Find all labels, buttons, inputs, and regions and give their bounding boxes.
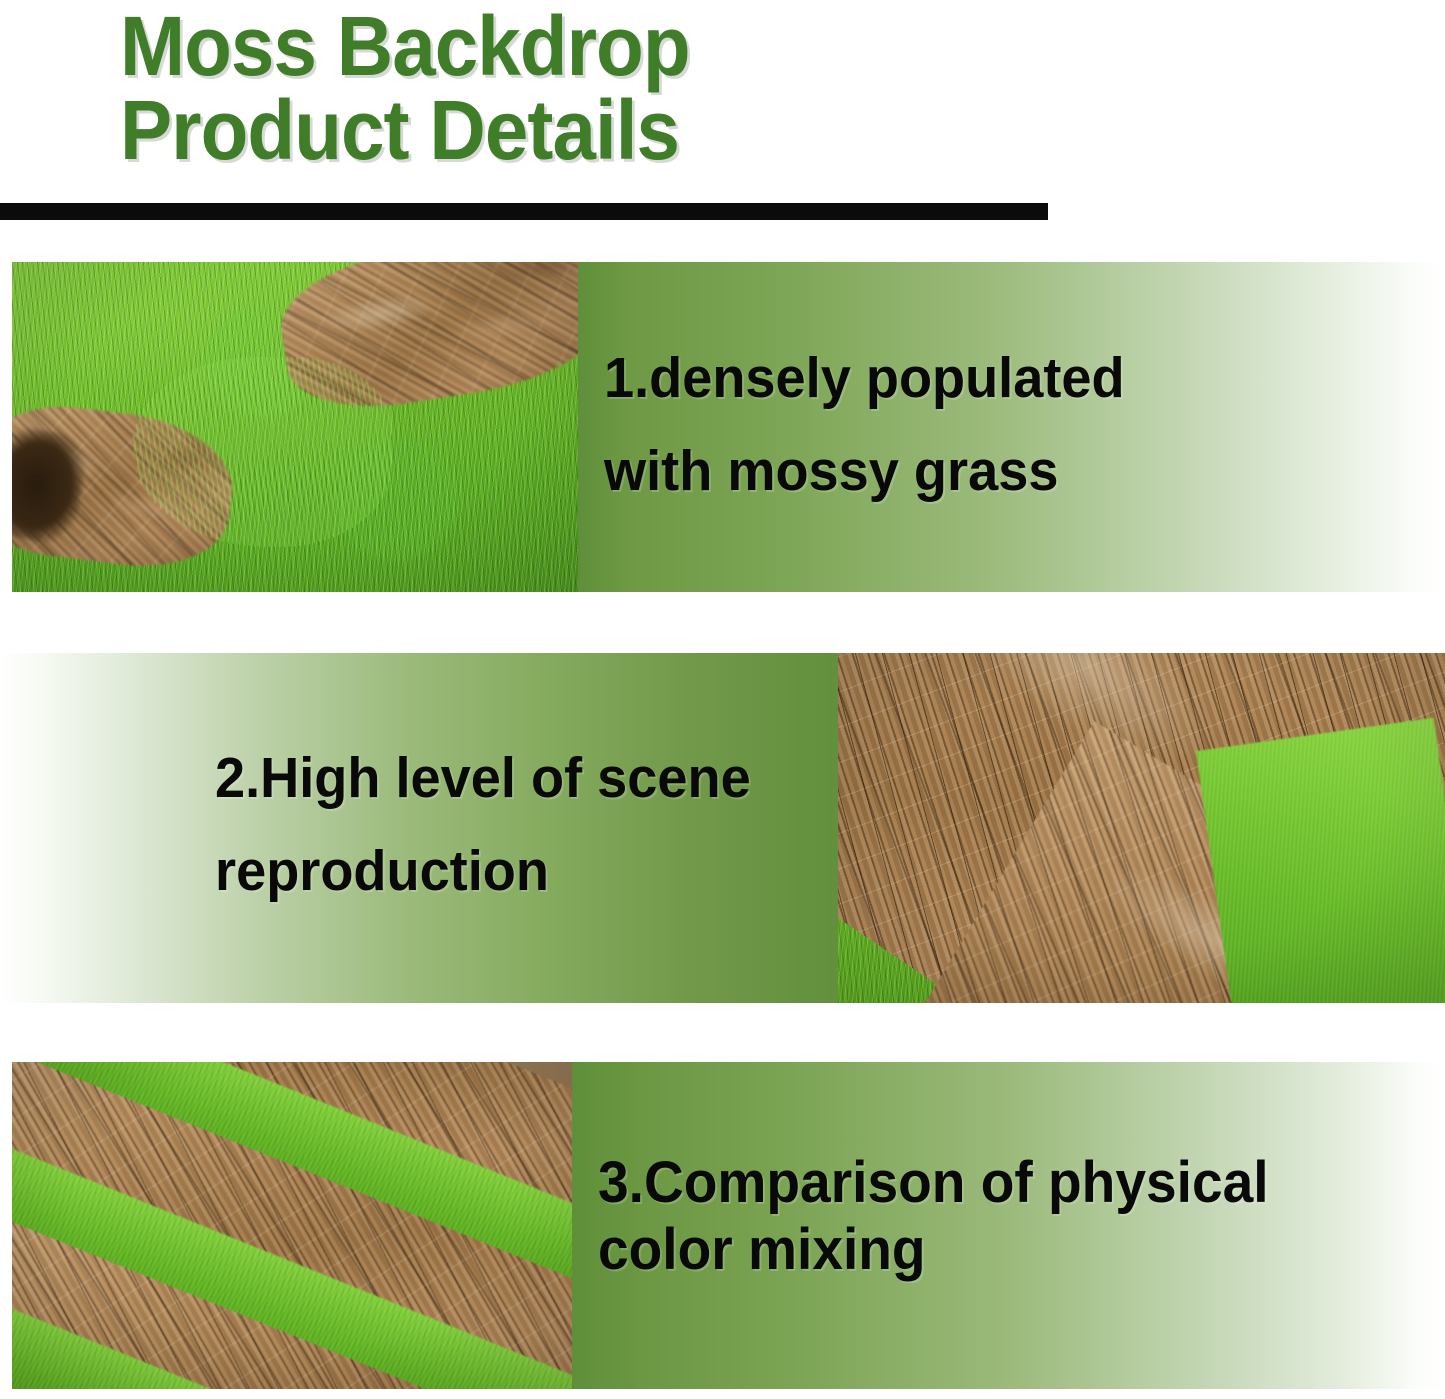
- feature-caption-1-line-1: 1.densely populated: [604, 332, 1125, 425]
- feature-panel-3: 3.Comparison of physical color mixing: [572, 1062, 1445, 1389]
- image-vignette: [12, 262, 578, 592]
- feature-row-2: 2.High level of scene reproduction: [0, 653, 1445, 1003]
- page-title-line-1: Moss Backdrop: [120, 4, 1050, 88]
- image-vignette: [838, 653, 1445, 1003]
- feature-caption-2-line-1: 2.High level of scene: [215, 732, 751, 825]
- title-divider-rule: [0, 203, 1048, 220]
- feature-panel-2: 2.High level of scene reproduction: [0, 653, 838, 1003]
- feature-caption-2: 2.High level of scene reproduction: [215, 732, 751, 918]
- feature-caption-1: 1.densely populated with mossy grass: [604, 332, 1125, 518]
- feature-caption-3-line-1: 3.Comparison of physical: [598, 1149, 1269, 1216]
- feature-caption-2-line-2: reproduction: [215, 825, 751, 918]
- page-title: Moss Backdrop Product Details: [120, 4, 1120, 172]
- feature-caption-3-line-2: color mixing: [598, 1216, 1269, 1283]
- page-title-line-2: Product Details: [120, 88, 1050, 172]
- feature-row-1: 1.densely populated with mossy grass: [0, 262, 1445, 592]
- feature-row-3: 3.Comparison of physical color mixing: [0, 1062, 1445, 1389]
- feature-caption-3: 3.Comparison of physical color mixing: [598, 1149, 1269, 1283]
- image-vignette: [12, 1062, 572, 1389]
- feature-panel-1: 1.densely populated with mossy grass: [578, 262, 1445, 592]
- feature-image-1: [12, 262, 578, 592]
- feature-image-2: [838, 653, 1445, 1003]
- feature-image-3: [12, 1062, 572, 1389]
- feature-caption-1-line-2: with mossy grass: [604, 425, 1125, 518]
